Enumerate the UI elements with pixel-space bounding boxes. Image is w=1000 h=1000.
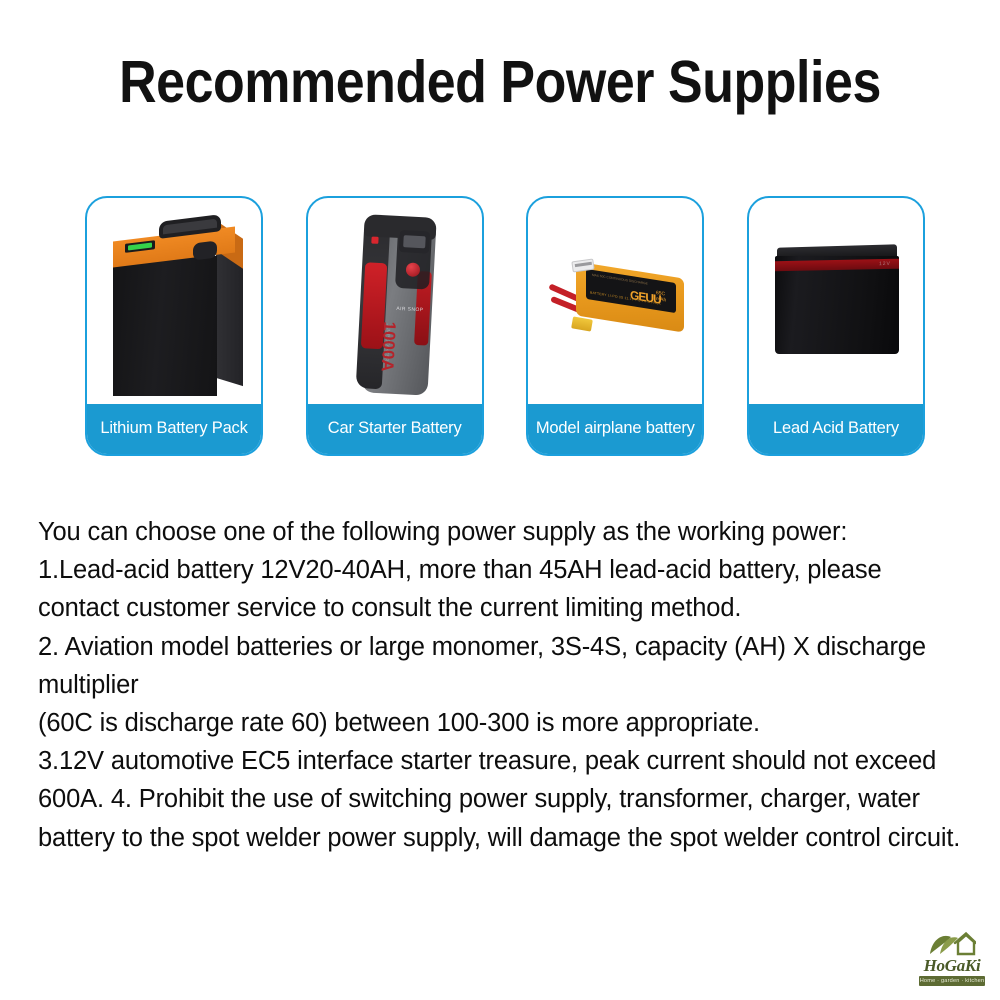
lipo-xt-connector: [571, 316, 593, 331]
lithium-battery-pack-image: [87, 198, 261, 410]
card-caption-lead-acid-battery: Lead Acid Battery: [749, 404, 923, 454]
lithium-battery-illustration: [107, 216, 247, 401]
watermark-brand-name: HoGaKi: [912, 956, 992, 976]
product-card-row: Lithium Battery Pack AIR SNOP JUMP START…: [85, 196, 925, 456]
card-caption-lithium-battery-pack: Lithium Battery Pack: [87, 404, 261, 454]
product-card-lithium-battery-pack[interactable]: Lithium Battery Pack: [85, 196, 263, 456]
product-card-model-airplane-battery[interactable]: MAX 60C CONTINUOUS DISCHARGE GEUU 65C mA…: [526, 196, 704, 456]
watermark-tagline: Home · garden · kitchen: [919, 976, 985, 986]
lipo-battery-illustration: MAX 60C CONTINUOUS DISCHARGE GEUU 65C mA…: [546, 260, 692, 352]
page-root: Recommended Power Supplies Lithium Batte…: [0, 0, 1000, 1000]
starter-power-button-icon: [405, 262, 420, 277]
leaf-house-icon: [928, 930, 976, 956]
starter-lcd-screen: [399, 230, 430, 254]
page-title: Recommended Power Supplies: [60, 48, 940, 116]
product-card-lead-acid-battery[interactable]: 12V Lead Acid Battery: [747, 196, 925, 456]
body-description-text: You can choose one of the following powe…: [38, 513, 968, 857]
starter-amps-label: 1000A: [376, 321, 399, 372]
starter-indicator-light: [371, 237, 378, 244]
watermark-logo: HoGaKi Home · garden · kitchen: [912, 928, 992, 994]
product-card-car-starter-battery[interactable]: AIR SNOP JUMP STARTER 1000A Car Starter …: [306, 196, 484, 456]
card-caption-model-airplane-battery: Model airplane battery: [528, 404, 702, 454]
battery-front-panel: [113, 256, 217, 396]
model-airplane-battery-image: MAX 60C CONTINUOUS DISCHARGE GEUU 65C mA…: [528, 198, 702, 410]
lead-acid-illustration: 12V: [775, 246, 899, 356]
lead-acid-battery-image: 12V: [749, 198, 923, 410]
car-starter-illustration: AIR SNOP JUMP STARTER 1000A: [347, 210, 449, 405]
card-caption-car-starter-battery: Car Starter Battery: [308, 404, 482, 454]
lead-acid-stripe-text: 12V: [879, 261, 891, 267]
car-starter-battery-image: AIR SNOP JUMP STARTER 1000A: [308, 198, 482, 410]
